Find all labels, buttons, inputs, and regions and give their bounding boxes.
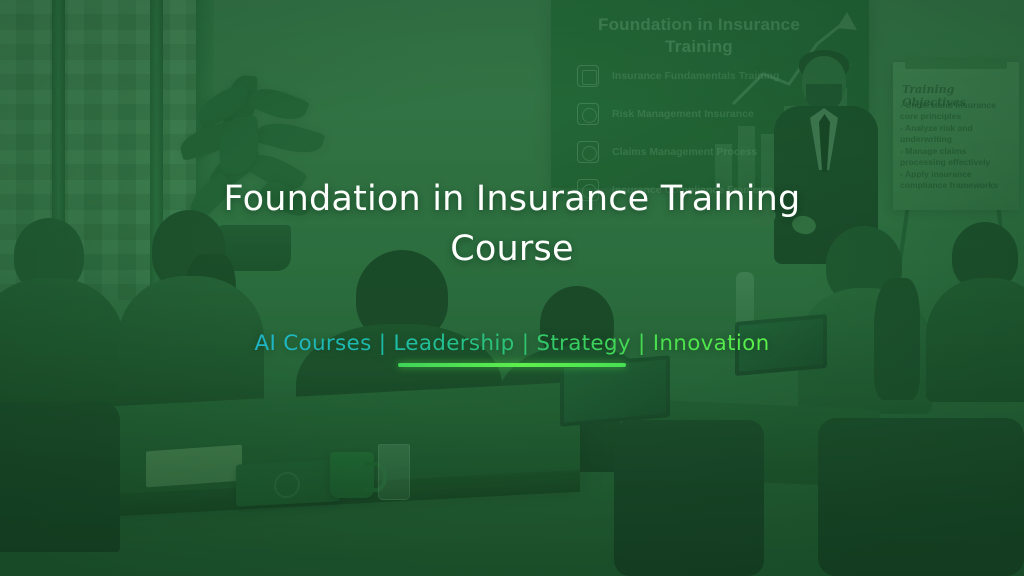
slide-content: Foundation in Insurance Training Course … [0,0,1024,576]
page-title: Foundation in Insurance Training Course [192,175,832,274]
subtitle-block: AI Courses | Leadership | Strategy | Inn… [254,331,769,367]
title-line-2: Course [450,229,573,269]
title-line-1: Foundation in Insurance Training [224,179,801,219]
presentation-slide: Foundation in Insurance Training Insuran… [0,0,1024,576]
subtitle-text: AI Courses | Leadership | Strategy | Inn… [254,331,769,356]
accent-underline [398,363,626,367]
